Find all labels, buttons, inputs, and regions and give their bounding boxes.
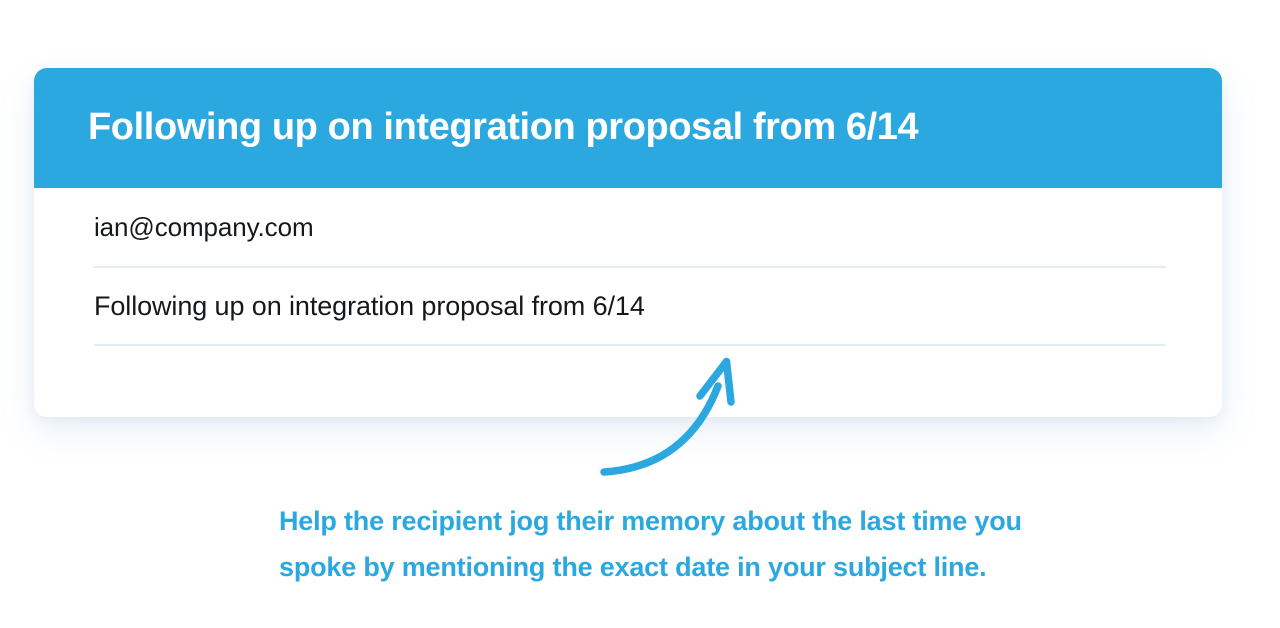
page-title: Following up on integration proposal fro… (88, 107, 918, 149)
recipient-field-row[interactable]: ian@company.com (94, 188, 1166, 268)
annotation-caption-line-1: Help the recipient jog their memory abou… (279, 498, 1179, 544)
subject-input[interactable]: Following up on integration proposal fro… (94, 291, 645, 322)
recipient-input[interactable]: ian@company.com (94, 212, 314, 243)
subject-field-row[interactable]: Following up on integration proposal fro… (94, 268, 1166, 346)
card-header: Following up on integration proposal fro… (34, 68, 1222, 188)
annotation-caption: Help the recipient jog their memory abou… (279, 498, 1179, 590)
email-composer-card: Following up on integration proposal fro… (34, 68, 1222, 417)
card-body: ian@company.com Following up on integrat… (34, 188, 1222, 346)
annotation-caption-line-2: spoke by mentioning the exact date in yo… (279, 544, 1179, 590)
